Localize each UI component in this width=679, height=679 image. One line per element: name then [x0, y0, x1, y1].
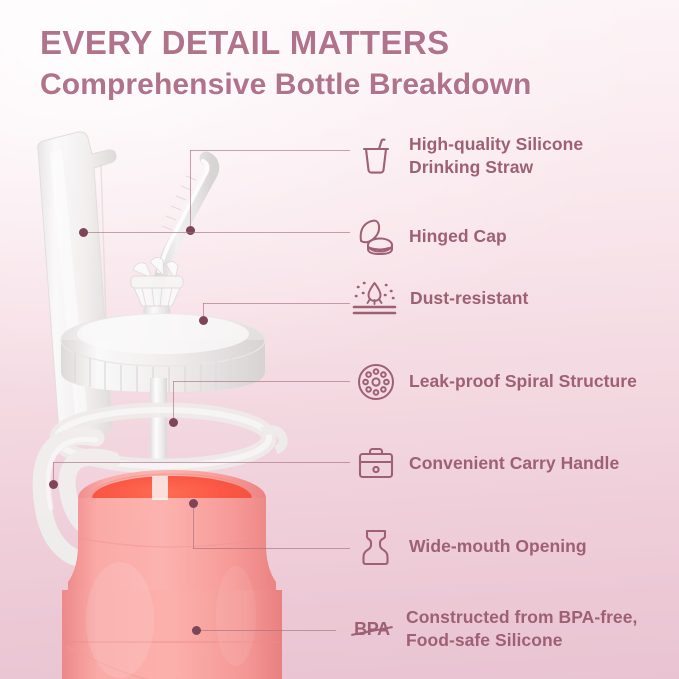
feature-dust-resistant[interactable]: Dust-resistant — [352, 278, 528, 320]
feature-bpa-free[interactable]: BPA Constructed from BPA-free, Food-safe… — [348, 606, 637, 653]
briefcase-handle-icon — [356, 443, 396, 485]
hinged-cap-icon — [356, 216, 396, 258]
page-title: EVERY DETAIL MATTERS — [40, 24, 640, 62]
feature-label: Hinged Cap — [409, 225, 507, 248]
spiral-thread-circle-icon — [356, 361, 396, 403]
feature-label: High-quality Silicone Drinking Straw — [409, 133, 583, 180]
feature-carry-handle[interactable]: Convenient Carry Handle — [356, 443, 619, 485]
straw-lower-shaft — [150, 378, 167, 470]
feature-silicone-straw[interactable]: High-quality Silicone Drinking Straw — [356, 133, 583, 180]
feature-label: Convenient Carry Handle — [409, 452, 619, 475]
wide-mouth-bottle-body — [62, 470, 282, 679]
wide-mouth-jar-icon — [356, 526, 396, 568]
heading-block: EVERY DETAIL MATTERS Comprehensive Bottl… — [40, 24, 640, 104]
feature-label: Dust-resistant — [410, 287, 528, 310]
cup-with-straw-icon — [356, 135, 396, 177]
feature-wide-mouth[interactable]: Wide-mouth Opening — [356, 526, 587, 568]
infographic-canvas: EVERY DETAIL MATTERS Comprehensive Bottl… — [0, 0, 679, 679]
feature-leak-proof[interactable]: Leak-proof Spiral Structure — [356, 361, 637, 403]
bpa-crossed-out-icon: BPA — [348, 608, 396, 650]
page-subtitle: Comprehensive Bottle Breakdown — [40, 65, 640, 104]
feature-hinged-cap[interactable]: Hinged Cap — [356, 216, 507, 258]
product-illustration — [0, 120, 330, 679]
feature-label: Wide-mouth Opening — [409, 535, 587, 558]
dust-droplet-icon — [352, 278, 397, 320]
flip-top-hinged-lid — [38, 132, 117, 442]
bpa-text: BPA — [354, 619, 390, 640]
feature-label: Constructed from BPA-free, Food-safe Sil… — [406, 606, 637, 653]
feature-label: Leak-proof Spiral Structure — [409, 370, 637, 393]
